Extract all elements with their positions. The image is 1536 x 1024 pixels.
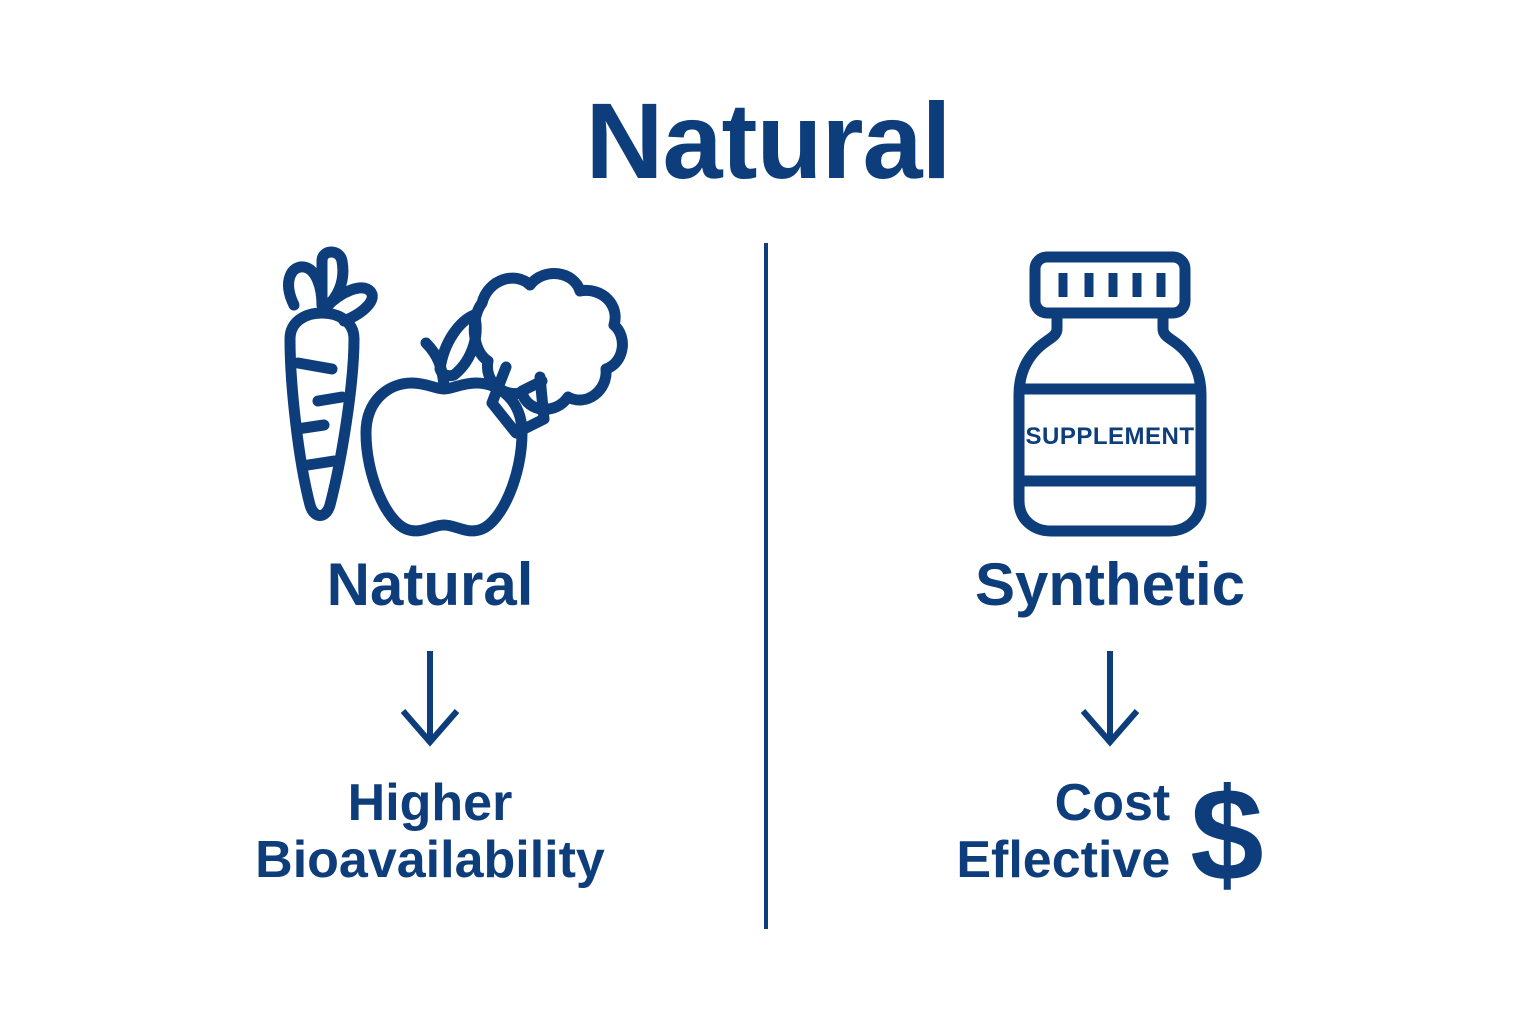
infographic-canvas: Natural bbox=[0, 0, 1536, 1024]
column-synthetic: SUPPLEMENT Synthetic Cost Eflective $ bbox=[790, 243, 1430, 889]
category-label-natural: Natural bbox=[327, 555, 534, 615]
benefit-line-1: Higher bbox=[348, 775, 513, 832]
benefit-line-2: Bioavailability bbox=[255, 832, 605, 889]
dollar-sign-icon: $ bbox=[1190, 781, 1263, 889]
arrow-down-icon bbox=[395, 649, 465, 749]
page-title: Natural bbox=[0, 84, 1536, 197]
benefit-line-1: Cost bbox=[1055, 775, 1171, 832]
benefit-line-2: Eflective bbox=[956, 832, 1170, 889]
bottle-cap-ridges bbox=[1063, 273, 1161, 297]
broccoli-icon bbox=[474, 274, 622, 433]
fruits-vegetables-icon bbox=[230, 243, 630, 543]
arrow-down-glyph bbox=[1075, 649, 1145, 749]
arrow-down-glyph bbox=[395, 649, 465, 749]
arrow-down-icon bbox=[1075, 649, 1145, 749]
produce-illustration bbox=[230, 243, 630, 543]
category-label-synthetic: Synthetic bbox=[975, 555, 1245, 615]
benefit-natural: Higher Bioavailability bbox=[255, 775, 605, 889]
bottle-label-text: SUPPLEMENT bbox=[790, 423, 1430, 451]
bottle-body bbox=[1019, 313, 1201, 531]
apple-icon bbox=[366, 315, 522, 531]
carrot-icon bbox=[289, 252, 373, 516]
column-natural: Natural Higher Bioavailability bbox=[110, 243, 750, 889]
benefit-synthetic: Cost Eflective $ bbox=[956, 775, 1263, 889]
column-divider bbox=[764, 243, 768, 929]
bottle-illustration bbox=[985, 243, 1235, 543]
supplement-bottle-icon bbox=[985, 243, 1235, 543]
